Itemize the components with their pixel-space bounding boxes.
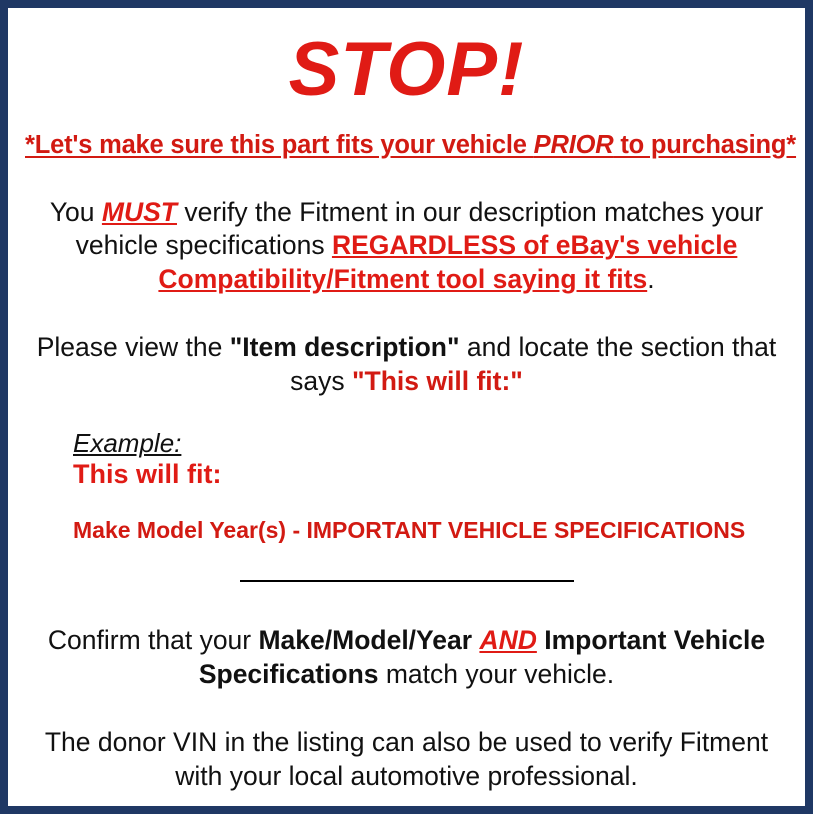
paragraph-confirm: Confirm that your Make/Model/Year AND Im… xyxy=(25,624,788,692)
section-divider-wrap xyxy=(25,572,788,590)
subtitle-text-after: to purchasing* xyxy=(613,131,796,159)
paragraph-please-view: Please view the "Item description" and l… xyxy=(25,331,788,399)
subtitle-emphasis-prior: PRIOR xyxy=(534,131,614,159)
emphasis-make-model-year: Make/Model/Year xyxy=(258,625,472,655)
paragraph-must-verify: You MUST verify the Fitment in our descr… xyxy=(25,196,788,298)
confirm-text-4: match your vehicle. xyxy=(379,659,615,689)
emphasis-item-description: "Item description" xyxy=(230,332,460,362)
example-this-will-fit: This will fit: xyxy=(73,459,788,490)
subtitle-text-before: *Let's make sure this part fits your veh… xyxy=(25,131,534,159)
stop-heading: STOP! xyxy=(25,31,788,109)
emphasis-this-will-fit: "This will fit:" xyxy=(352,366,523,396)
paragraph-donor-vin: The donor VIN in the listing can also be… xyxy=(25,726,788,794)
section-divider xyxy=(240,580,574,582)
emphasis-and: AND xyxy=(479,625,536,655)
fitment-notice-body: STOP! *Let's make sure this part fits yo… xyxy=(8,8,805,806)
example-block: Example: This will fit: Make Model Year(… xyxy=(25,429,788,544)
must-text-1: You xyxy=(50,197,102,227)
please-text-1: Please view the xyxy=(37,332,230,362)
confirm-text-1: Confirm that your xyxy=(48,625,259,655)
fitment-subtitle: *Let's make sure this part fits your veh… xyxy=(25,131,788,160)
example-spec-line: Make Model Year(s) - IMPORTANT VEHICLE S… xyxy=(73,517,788,544)
must-text-3: . xyxy=(647,264,654,294)
fitment-notice-frame: STOP! *Let's make sure this part fits yo… xyxy=(0,0,813,814)
emphasis-must: MUST xyxy=(102,197,177,227)
example-label: Example: xyxy=(73,429,788,458)
